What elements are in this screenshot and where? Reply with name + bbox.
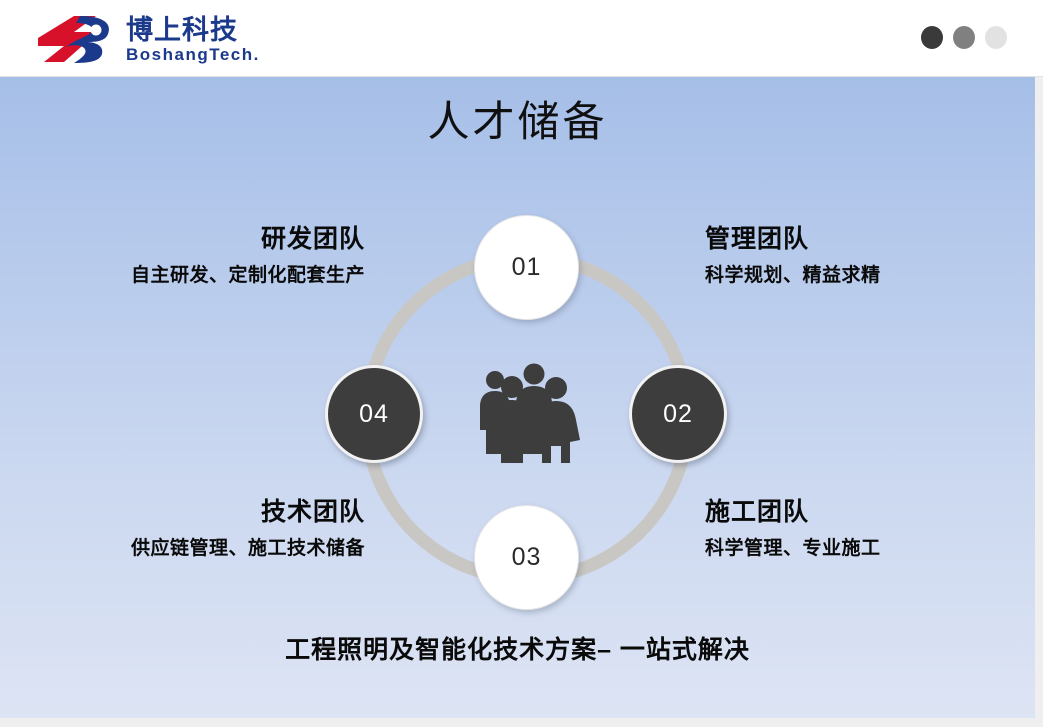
quadrant-management-team: 管理团队 科学规划、精益求精 [705, 224, 1025, 289]
quadrant-construction-team-subtitle: 科学管理、专业施工 [705, 537, 1025, 562]
quadrant-rd-team: 研发团队 自主研发、定制化配套生产 [40, 224, 365, 289]
cycle-node-02-label: 02 [663, 400, 693, 429]
page-title: 人才储备 [0, 99, 1035, 147]
quadrant-technical-team: 技术团队 供应链管理、施工技术储备 [40, 497, 365, 562]
company-logo: 博上科技 BoshangTech. [34, 12, 294, 66]
cycle-node-03-label: 03 [512, 543, 542, 572]
cycle-node-03[interactable]: 03 [474, 505, 579, 610]
cycle-node-04[interactable]: 04 [325, 365, 423, 463]
page-indicator-dots[interactable] [921, 26, 1007, 49]
header-bar: 博上科技 BoshangTech. [0, 0, 1043, 77]
cycle-node-01-label: 01 [512, 253, 542, 282]
group-of-people-icon [472, 362, 582, 467]
quadrant-management-team-title: 管理团队 [705, 224, 1025, 255]
slide-canvas: 人才储备 01 02 [0, 77, 1035, 718]
boshang-logo-icon: 博上科技 BoshangTech. [34, 12, 294, 66]
indicator-dot-3[interactable] [985, 26, 1007, 49]
slide-footer-tagline: 工程照明及智能化技术方案– 一站式解决 [0, 630, 1035, 666]
indicator-dot-2[interactable] [953, 26, 975, 49]
cycle-node-02[interactable]: 02 [629, 365, 727, 463]
quadrant-construction-team-title: 施工团队 [705, 497, 1025, 528]
quadrant-technical-team-subtitle: 供应链管理、施工技术储备 [40, 537, 365, 562]
indicator-dot-1[interactable] [921, 26, 943, 49]
quadrant-management-team-subtitle: 科学规划、精益求精 [705, 264, 1025, 289]
cycle-node-04-label: 04 [359, 400, 389, 429]
quadrant-rd-team-title: 研发团队 [40, 224, 365, 255]
presentation-slide: 博上科技 BoshangTech. 人才储备 [0, 0, 1043, 727]
quadrant-rd-team-subtitle: 自主研发、定制化配套生产 [40, 264, 365, 289]
quadrant-construction-team: 施工团队 科学管理、专业施工 [705, 497, 1025, 562]
cycle-node-01[interactable]: 01 [474, 215, 579, 320]
quadrant-technical-team-title: 技术团队 [40, 497, 365, 528]
logo-chinese-text: 博上科技 [126, 14, 238, 46]
logo-latin-text: BoshangTech. [126, 45, 260, 64]
